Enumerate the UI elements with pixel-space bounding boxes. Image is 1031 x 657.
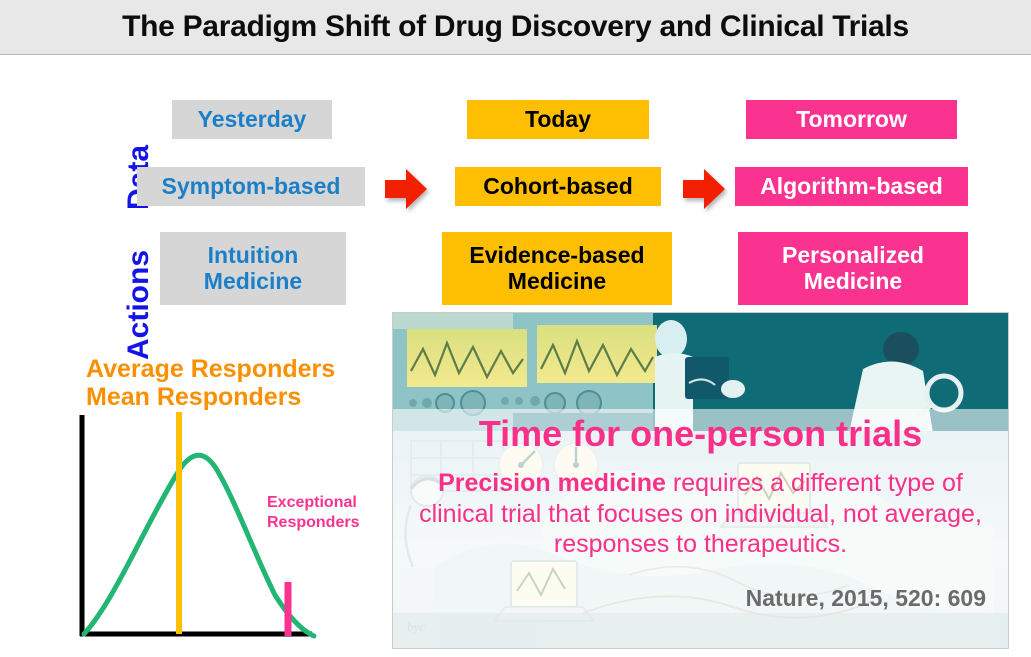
axis-label-actions: Actions (122, 250, 156, 360)
chart-series-line (84, 455, 314, 636)
matrix-cell-evidence-based-medicine[interactable]: Evidence-based Medicine (442, 232, 672, 305)
matrix-cell-line-1: Evidence-based (469, 243, 644, 269)
panel-body-bold: Precision medicine (438, 469, 666, 497)
chart-exceptional-label-line-1: Exceptional (267, 493, 397, 513)
matrix-cell-line-2: Medicine (204, 269, 302, 295)
right-arrow-icon (681, 167, 727, 211)
matrix-cell-yesterday[interactable]: Yesterday (172, 100, 332, 139)
matrix-cell-cohort-based[interactable]: Cohort-based (455, 167, 661, 206)
matrix-cell-algorithm-based[interactable]: Algorithm-based (735, 167, 968, 206)
responder-distribution-chart: Average Responders Mean Responders Excep… (60, 350, 400, 650)
panel-citation: Nature, 2015, 520: 609 (746, 585, 986, 612)
panel-headline: Time for one-person trials (393, 413, 1008, 455)
slide-root: The Paradigm Shift of Drug Discovery and… (0, 0, 1031, 657)
matrix-cell-line-2: Medicine (469, 269, 644, 295)
matrix-cell-line-2: Medicine (782, 269, 924, 295)
chart-exceptional-label: Exceptional Responders (267, 493, 397, 532)
matrix-cell-today[interactable]: Today (467, 100, 649, 139)
right-arrow-icon (383, 167, 429, 211)
matrix-cell-symptom-based[interactable]: Symptom-based (137, 167, 365, 206)
panel-text-overlay: Time for one-person trials Precision med… (393, 313, 1008, 648)
paradigm-matrix: Data Actions Yesterday Today Tomorrow Sy… (0, 55, 1031, 320)
matrix-cell-intuition-medicine[interactable]: Intuition Medicine (160, 232, 346, 305)
chart-exceptional-label-line-2: Responders (267, 513, 397, 533)
illustration-panel: byc Time for one-person trials Precision… (392, 312, 1009, 649)
matrix-cell-personalized-medicine[interactable]: Personalized Medicine (738, 232, 968, 305)
matrix-cell-tomorrow[interactable]: Tomorrow (746, 100, 957, 139)
title-bar: The Paradigm Shift of Drug Discovery and… (0, 0, 1031, 55)
panel-body: Precision medicine requires a different … (403, 468, 998, 560)
page-title: The Paradigm Shift of Drug Discovery and… (0, 0, 1031, 54)
matrix-cell-line-1: Personalized (782, 243, 924, 269)
matrix-cell-line-1: Intuition (204, 243, 302, 269)
